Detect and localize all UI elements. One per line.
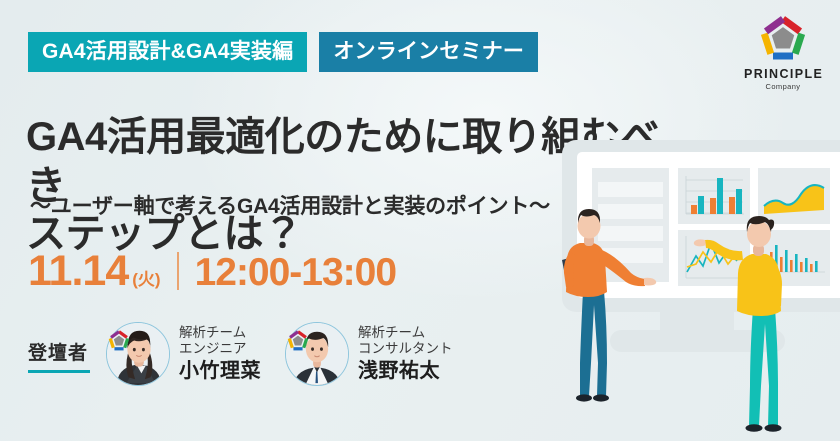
speakers-label: 登壇者 — [28, 344, 90, 363]
corporate-logo: PRINCIPLE Company — [744, 14, 822, 91]
principle-pentagon-logo-icon — [757, 14, 809, 64]
speaker-text: 解析チーム コンサルタント 浅野祐太 — [358, 325, 453, 383]
event-date: 11.14 — [28, 250, 128, 293]
corporate-logo-subtitle: Company — [744, 82, 822, 91]
principle-pentagon-icon — [286, 329, 310, 353]
corporate-logo-name: PRINCIPLE — [744, 67, 822, 81]
datetime-divider — [177, 252, 179, 290]
seminar-banner: GA4活用設計&GA4実装編 オンラインセミナー GA4活用最適化のために取り組… — [0, 0, 840, 441]
avatar-wrap — [106, 322, 170, 386]
badge-format: オンラインセミナー — [319, 32, 538, 72]
speakers-section: 登壇者 — [28, 322, 477, 386]
speakers-label-block: 登壇者 — [28, 344, 90, 373]
speaker-role: コンサルタント — [358, 341, 453, 357]
event-day-of-week: (火) — [132, 271, 160, 288]
speaker-text: 解析チーム エンジニア 小竹理菜 — [179, 325, 261, 383]
page-subtitle: 〜ユーザー軸で考えるGA4活用設計と実装のポイント〜 — [30, 196, 550, 217]
speaker-team: 解析チーム — [179, 325, 261, 341]
speaker-card: 解析チーム コンサルタント 浅野祐太 — [285, 322, 453, 386]
principle-pentagon-icon — [107, 329, 131, 353]
speaker-team: 解析チーム — [358, 325, 453, 341]
event-time: 12:00-13:00 — [195, 253, 396, 292]
speaker-name: 小竹理菜 — [179, 360, 261, 384]
speaker-card: 解析チーム エンジニア 小竹理菜 — [106, 322, 261, 386]
speakers-label-underline — [28, 370, 90, 373]
speaker-name: 浅野祐太 — [358, 360, 453, 384]
badge-row: GA4活用設計&GA4実装編 オンラインセミナー — [28, 32, 538, 72]
datetime-row: 11.14 (火) 12:00-13:00 — [28, 247, 396, 293]
speaker-role: エンジニア — [179, 341, 261, 357]
dashboard-analytics-illustration — [540, 140, 840, 441]
illustration-svg — [540, 140, 840, 441]
avatar-wrap — [285, 322, 349, 386]
badge-topic: GA4活用設計&GA4実装編 — [28, 32, 307, 72]
